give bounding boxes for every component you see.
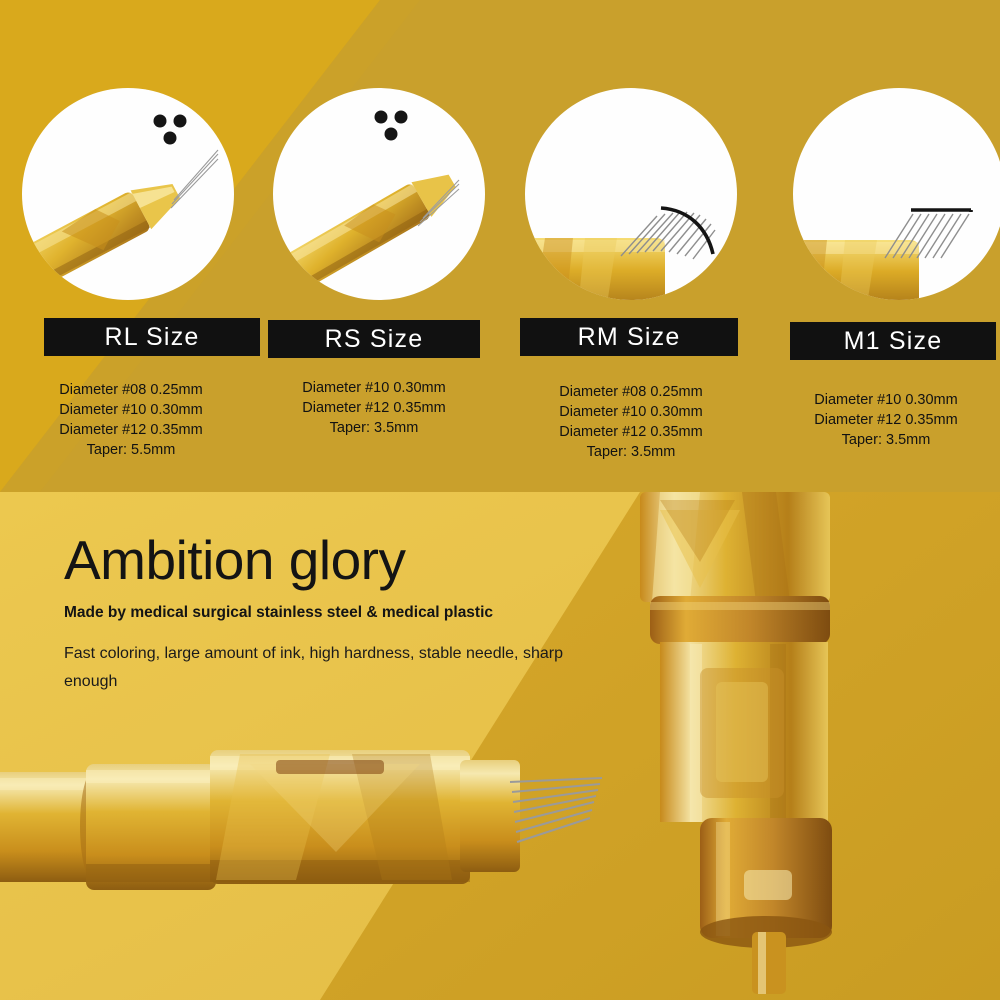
size-title-rl: RL Size (104, 323, 199, 352)
needle-sizes-section: RL Size RS Size RM Size M1 Size Diameter… (0, 0, 1000, 492)
spec-item: Taper: 3.5mm (524, 442, 738, 462)
spec-item: Taper: 3.5mm (272, 418, 476, 438)
product-cartridge-horizontal (0, 750, 602, 890)
rl-needle-illustration (22, 88, 234, 300)
m1-needle-illustration (793, 88, 1000, 300)
spec-item: Diameter #08 0.25mm (28, 380, 234, 400)
spec-item: Diameter #10 0.30mm (272, 378, 476, 398)
spec-item: Taper: 3.5mm (778, 430, 994, 450)
spec-list-m1: Diameter #10 0.30mm Diameter #12 0.35mm … (778, 390, 994, 450)
size-title-rs: RS Size (325, 325, 424, 354)
three-dot-cluster-icon (154, 115, 187, 145)
promo-subheading: Made by medical surgical stainless steel… (64, 604, 493, 622)
spec-item: Diameter #12 0.35mm (272, 398, 476, 418)
needle-closeup-rs (273, 88, 485, 300)
promo-section: Ambition glory Made by medical surgical … (0, 492, 1000, 1000)
spec-item: Diameter #10 0.30mm (778, 390, 994, 410)
size-title-bar-rm: RM Size (520, 318, 738, 356)
promo-description: Fast coloring, large amount of ink, high… (64, 640, 584, 696)
size-title-bar-rs: RS Size (268, 320, 480, 358)
spec-list-rm: Diameter #08 0.25mm Diameter #10 0.30mm … (524, 382, 738, 462)
rm-needle-illustration (525, 88, 737, 300)
needle-closeup-circles (0, 74, 1000, 294)
spec-list-rs: Diameter #10 0.30mm Diameter #12 0.35mm … (272, 378, 476, 438)
rs-needle-illustration (273, 88, 485, 300)
needle-closeup-m1 (793, 88, 1000, 300)
product-infographic: RL Size RS Size RM Size M1 Size Diameter… (0, 0, 1000, 1000)
three-dot-cluster-icon (375, 111, 408, 141)
size-title-rm: RM Size (578, 323, 681, 352)
needle-closeup-rm (525, 88, 737, 300)
spec-item: Diameter #10 0.30mm (28, 400, 234, 420)
spec-item: Diameter #12 0.35mm (28, 420, 234, 440)
spec-item: Diameter #12 0.35mm (778, 410, 994, 430)
spec-item: Taper: 5.5mm (28, 440, 234, 460)
promo-heading: Ambition glory (64, 528, 405, 592)
spec-item: Diameter #12 0.35mm (524, 422, 738, 442)
straight-needle-row-icon (885, 214, 969, 258)
spec-item: Diameter #10 0.30mm (524, 402, 738, 422)
spec-item: Diameter #08 0.25mm (524, 382, 738, 402)
spec-list-rl: Diameter #08 0.25mm Diameter #10 0.30mm … (28, 380, 234, 460)
size-title-bar-rl: RL Size (44, 318, 260, 356)
size-title-bar-m1: M1 Size (790, 322, 996, 360)
size-title-m1: M1 Size (844, 327, 943, 356)
needle-closeup-rl (22, 88, 234, 300)
size-title-bars: RL Size RS Size RM Size M1 Size (0, 318, 1000, 362)
